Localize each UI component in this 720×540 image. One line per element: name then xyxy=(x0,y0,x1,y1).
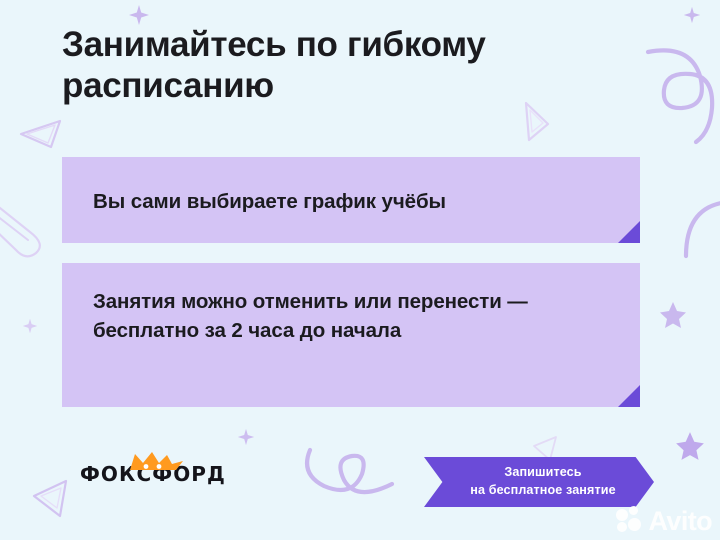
star-4point-small-icon xyxy=(237,428,255,446)
benefit-panel-2-text: Занятия можно отменить или перенести — б… xyxy=(93,287,606,345)
avito-watermark: Avito xyxy=(616,506,713,536)
page-title: Занимайтесь по гибкому расписанию xyxy=(62,24,642,107)
avito-dots-icon xyxy=(616,506,646,536)
signup-cta-ribbon[interactable]: Запишитесь на бесплатное занятие xyxy=(424,457,654,507)
spiral-curl-icon xyxy=(638,28,720,146)
cta-line-2: на бесплатное занятие xyxy=(470,482,615,500)
corner-fold-icon xyxy=(618,385,640,407)
paperclip-outline-icon xyxy=(0,190,60,260)
star-4point-small-icon xyxy=(22,318,38,334)
fox-head-icon xyxy=(126,450,186,477)
star-5point-filled-icon xyxy=(658,300,688,330)
curl-squiggle-icon xyxy=(296,436,420,508)
star-5point-filled-icon xyxy=(674,430,706,462)
brand-logo: ФОКСФОРД xyxy=(80,462,226,486)
triangle-outline-icon xyxy=(18,118,64,150)
star-4point-small-icon xyxy=(683,6,701,24)
benefit-panel-2: Занятия можно отменить или перенести — б… xyxy=(62,263,640,407)
benefit-panel-1-text: Вы сами выбираете график учёбы xyxy=(93,187,606,216)
avito-wordmark: Avito xyxy=(649,508,713,535)
signup-cta-label: Запишитесь на бесплатное занятие xyxy=(424,457,654,507)
star-4point-small-icon xyxy=(128,4,150,26)
slide-canvas: Занимайтесь по гибкому расписанию Вы сам… xyxy=(0,0,720,540)
benefit-panel-1: Вы сами выбираете график учёбы xyxy=(62,157,640,243)
triangle-outline-icon xyxy=(518,100,552,144)
arc-curve-icon xyxy=(684,198,720,260)
corner-fold-icon xyxy=(618,221,640,243)
cta-line-1: Запишитесь xyxy=(504,464,581,482)
triangle-outline-icon xyxy=(30,478,74,520)
